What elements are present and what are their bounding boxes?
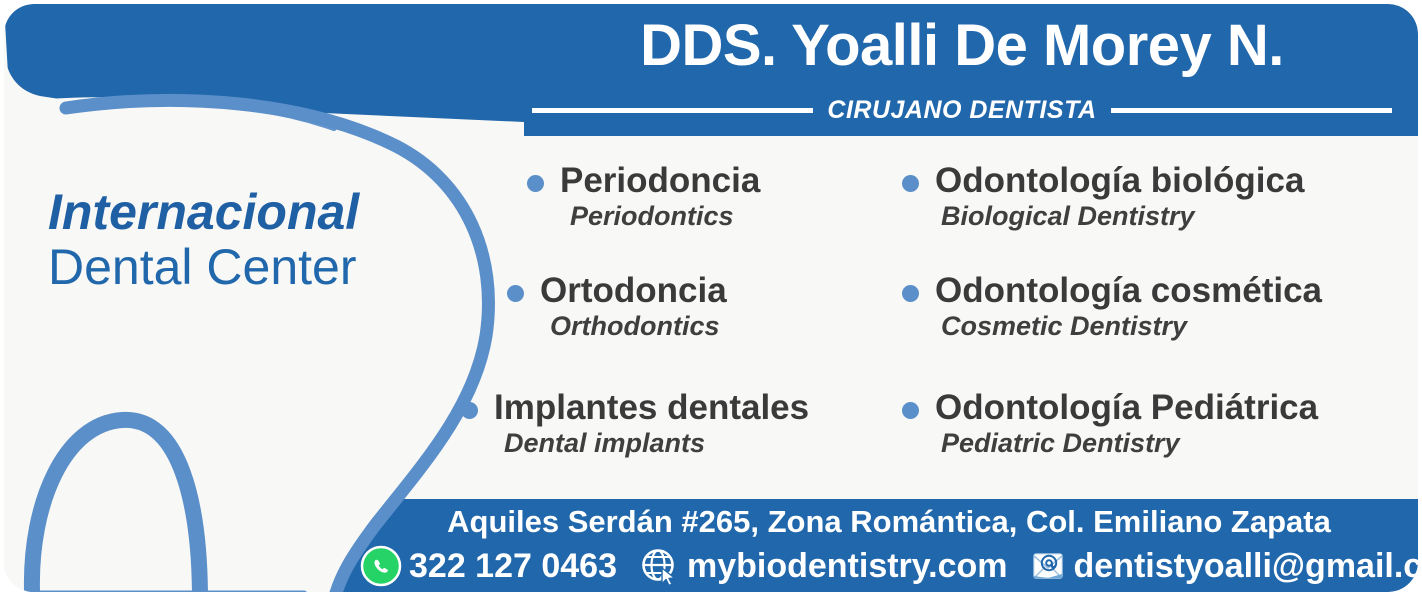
contact-website[interactable]: mybiodentistry.com: [637, 544, 1008, 588]
service-name-es: Odontología cosmética: [935, 272, 1322, 309]
address-text: Aquiles Serdán #265, Zona Romántica, Col…: [384, 504, 1394, 540]
card-plate: DDS. Yoalli De Morey N. CIRUJANO DENTIST…: [4, 4, 1418, 592]
service-item: Odontología Pediátrica Pediatric Dentist…: [902, 389, 1318, 459]
whatsapp-icon: [359, 544, 403, 588]
service-name-en: Pediatric Dentistry: [941, 427, 1318, 459]
email-address: dentistyoalli@gmail.com: [1074, 547, 1418, 586]
business-card: DDS. Yoalli De Morey N. CIRUJANO DENTIST…: [0, 0, 1422, 596]
contact-row: 322 127 0463 mybiodentistry.com: [359, 544, 1399, 588]
envelope-at-icon: [1028, 544, 1068, 588]
rule-right: [1111, 108, 1392, 113]
bullet-icon: [527, 175, 544, 192]
globe-cursor-icon: [637, 544, 681, 588]
service-name-es: Periodoncia: [560, 162, 760, 199]
service-name-en: Cosmetic Dentistry: [941, 310, 1322, 342]
bullet-icon: [902, 402, 919, 419]
subtitle-text: CIRUJANO DENTISTA: [827, 96, 1096, 125]
logo-line-dental-center: Dental Center: [48, 239, 448, 295]
logo-line-internacional: Internacional: [48, 186, 448, 239]
service-item: Odontología cosmética Cosmetic Dentistry: [902, 272, 1322, 342]
service-name-en: Orthodontics: [550, 310, 727, 342]
doctor-name: DDS. Yoalli De Morey N.: [524, 12, 1400, 79]
rule-left: [532, 108, 813, 113]
contact-email[interactable]: dentistyoalli@gmail.com: [1028, 544, 1418, 588]
service-name-es: Implantes dentales: [494, 389, 809, 426]
service-name-es: Odontología Pediátrica: [935, 389, 1318, 426]
bullet-icon: [507, 285, 524, 302]
service-name-en: Biological Dentistry: [941, 200, 1304, 232]
service-item: Implantes dentales Dental implants: [461, 389, 809, 459]
services-list: Periodoncia Periodontics Ortodoncia Orth…: [459, 154, 1399, 484]
website-url: mybiodentistry.com: [687, 547, 1008, 586]
subtitle-row: CIRUJANO DENTISTA: [532, 96, 1392, 125]
service-item: Periodoncia Periodontics: [527, 162, 760, 232]
service-item: Ortodoncia Orthodontics: [507, 272, 727, 342]
phone-number: 322 127 0463: [409, 547, 617, 586]
bullet-icon: [461, 402, 478, 419]
service-name-es: Ortodoncia: [540, 272, 727, 309]
service-name-en: Dental implants: [504, 427, 809, 459]
logo-wordmark: Internacional Dental Center: [48, 186, 448, 295]
bullet-icon: [902, 175, 919, 192]
contact-phone[interactable]: 322 127 0463: [359, 544, 617, 588]
service-item: Odontología biológica Biological Dentist…: [902, 162, 1304, 232]
service-name-en: Periodontics: [570, 200, 760, 232]
bullet-icon: [902, 285, 919, 302]
service-name-es: Odontología biológica: [935, 162, 1304, 199]
